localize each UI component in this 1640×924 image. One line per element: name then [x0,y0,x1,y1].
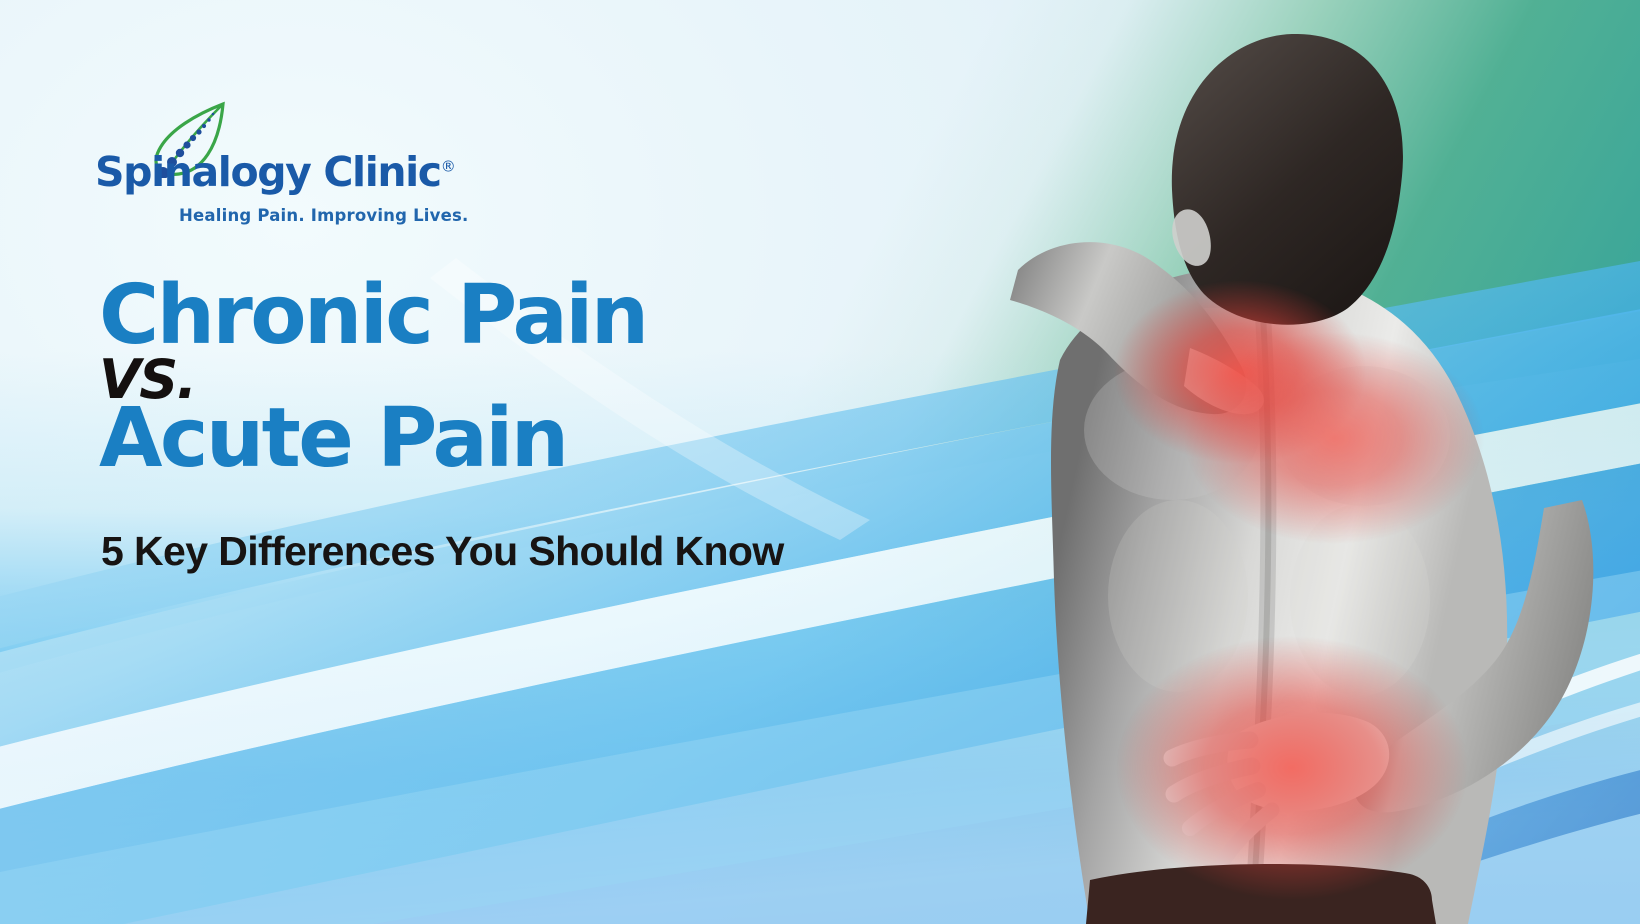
logo-tagline: Healing Pain. Improving Lives. [179,206,468,225]
photo-hair [1172,34,1403,325]
headline-line-chronic-pain: Chronic Pain [99,278,959,354]
registered-trademark-icon: ® [441,157,456,175]
subheadline: 5 Key Differences You Should Know [101,528,784,575]
logo-wordmark-text: Spinalogy Clinic [95,148,441,196]
headline-block: Chronic Pain VS. Acute Pain [99,278,959,478]
hero-photo-man-with-back-pain [940,0,1640,924]
headline-line-acute-pain: Acute Pain [99,401,959,477]
banner-root: Spinalogy Clinic® Healing Pain. Improvin… [0,0,1640,924]
pain-glow-lower-back [1116,636,1468,900]
pain-glow-shoulder [1184,332,1484,544]
logo-wordmark: Spinalogy Clinic® [95,148,456,196]
